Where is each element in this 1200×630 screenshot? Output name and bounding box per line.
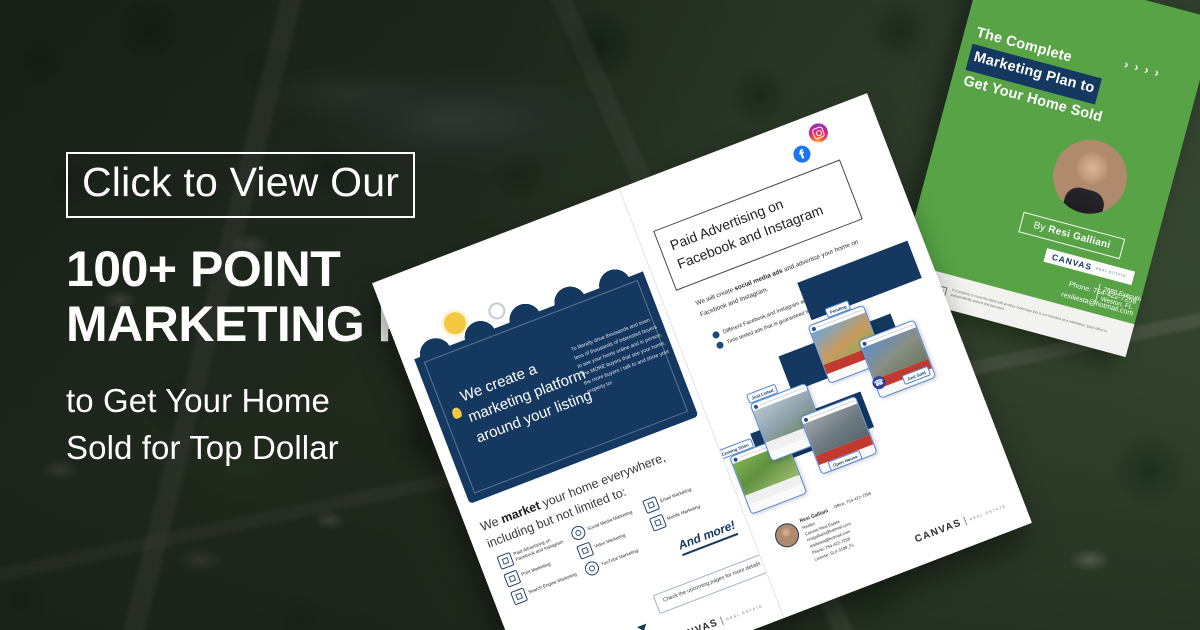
email-icon xyxy=(642,496,660,514)
cta-label: Click to View Our xyxy=(82,162,399,204)
click-to-view-button[interactable]: Click to View Our xyxy=(66,152,415,218)
search-engine-icon xyxy=(510,587,528,605)
cover-logo-main: CANVAS xyxy=(1051,252,1093,272)
channel-label: Email Marketing xyxy=(659,487,692,505)
facebook-bullet-icon xyxy=(712,330,721,339)
print-icon xyxy=(503,570,521,588)
agent-portrait xyxy=(1045,131,1136,222)
headline-line-1: 100+ POINT xyxy=(66,241,340,297)
channel-label: Video Marketing xyxy=(593,532,626,550)
social-media-icon xyxy=(569,524,587,542)
channel-label: YouTube Marketing xyxy=(600,548,639,568)
logo-divider xyxy=(963,517,967,526)
logo-main: CANVAS xyxy=(913,517,963,545)
avatar xyxy=(772,520,803,551)
chevron-down-icon xyxy=(637,624,648,630)
mobile-icon xyxy=(649,514,667,532)
youtube-icon xyxy=(583,559,601,577)
brand-logo: CANVAS REAL ESTATE xyxy=(670,600,765,630)
subhead-line-1: to Get Your Home xyxy=(66,382,330,419)
byline-name: Resi Galliani xyxy=(1047,224,1112,251)
video-icon xyxy=(576,542,594,560)
agent-signature: Resi Galliani Realtor Canvas Real Estate… xyxy=(772,501,860,573)
channel-label: Print Marketing xyxy=(521,561,552,578)
byline-prefix: By xyxy=(1032,220,1047,234)
hero-banner: Click to View Our 100+ POINT MARKETING P… xyxy=(0,0,1200,630)
instagram-icon xyxy=(806,121,831,146)
channel-label: Mobile Marketing xyxy=(666,504,701,522)
cover-logo-sub: REAL ESTATE xyxy=(1095,266,1126,278)
agent-office-phone: Office: 754-422-7258 xyxy=(833,491,871,510)
agent-details: Resi Galliani Realtor Canvas Real Estate… xyxy=(799,501,860,563)
logo-main: CANVAS xyxy=(670,617,720,630)
logo-sub: REAL ESTATE xyxy=(969,503,1007,521)
cover-byline: By Resi Galliani xyxy=(1018,212,1125,260)
logo-sub: REAL ESTATE xyxy=(725,603,763,621)
paid-advertising-icon xyxy=(496,552,514,570)
cover-title: The Complete Marketing Plan to Get Your … xyxy=(960,22,1182,147)
logo-divider xyxy=(720,616,724,625)
facebook-bullet-icon xyxy=(715,341,724,350)
facebook-icon: f xyxy=(791,143,813,165)
